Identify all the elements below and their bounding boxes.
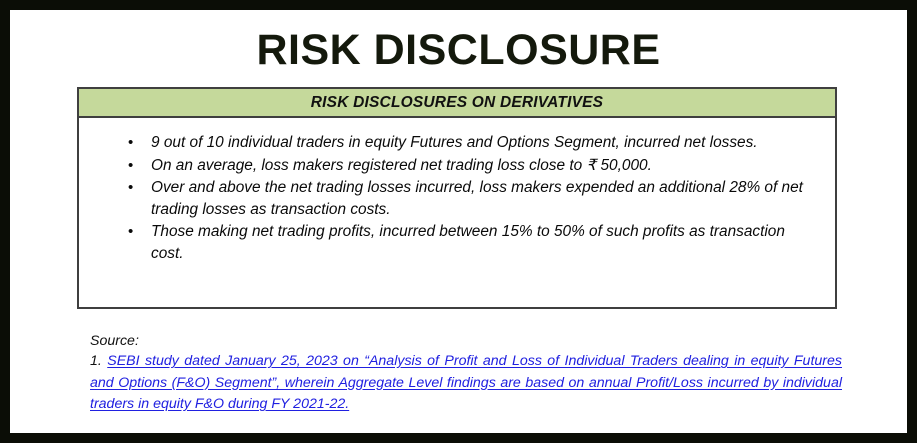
risk-disclosure-box-header: RISK DISCLOSURES ON DERIVATIVES <box>79 89 835 118</box>
bullet-icon: • <box>128 177 133 199</box>
list-item: • On an average, loss makers registered … <box>151 155 815 177</box>
list-item-text: Those making net trading profits, incurr… <box>151 223 785 262</box>
list-item: • 9 out of 10 individual traders in equi… <box>151 132 815 154</box>
page-title: RISK DISCLOSURE <box>10 24 907 76</box>
risk-disclosure-box-header-title: RISK DISCLOSURES ON DERIVATIVES <box>311 94 603 112</box>
source-section: Source: 1. SEBI study dated January 25, … <box>90 332 842 416</box>
risk-disclosure-box-body: • 9 out of 10 individual traders in equi… <box>79 118 835 264</box>
list-item-text: On an average, loss makers registered ne… <box>151 157 652 174</box>
source-reference-link[interactable]: SEBI study dated January 25, 2023 on “An… <box>90 353 842 412</box>
source-label: Source: <box>90 332 842 351</box>
source-reference-number: 1. <box>90 353 102 369</box>
bullet-icon: • <box>128 155 133 177</box>
risk-disclosure-slide: RISK DISCLOSURE RISK DISCLOSURES ON DERI… <box>0 0 917 443</box>
list-item-text: 9 out of 10 individual traders in equity… <box>151 134 758 151</box>
source-reference: 1. SEBI study dated January 25, 2023 on … <box>90 351 842 416</box>
risk-disclosure-box: RISK DISCLOSURES ON DERIVATIVES • 9 out … <box>77 87 837 309</box>
bullet-icon: • <box>128 221 133 243</box>
list-item: • Those making net trading profits, incu… <box>151 221 815 264</box>
list-item: • Over and above the net trading losses … <box>151 177 815 220</box>
bullet-icon: • <box>128 132 133 154</box>
risk-disclosure-list: • 9 out of 10 individual traders in equi… <box>99 132 815 264</box>
list-item-text: Over and above the net trading losses in… <box>151 179 803 218</box>
